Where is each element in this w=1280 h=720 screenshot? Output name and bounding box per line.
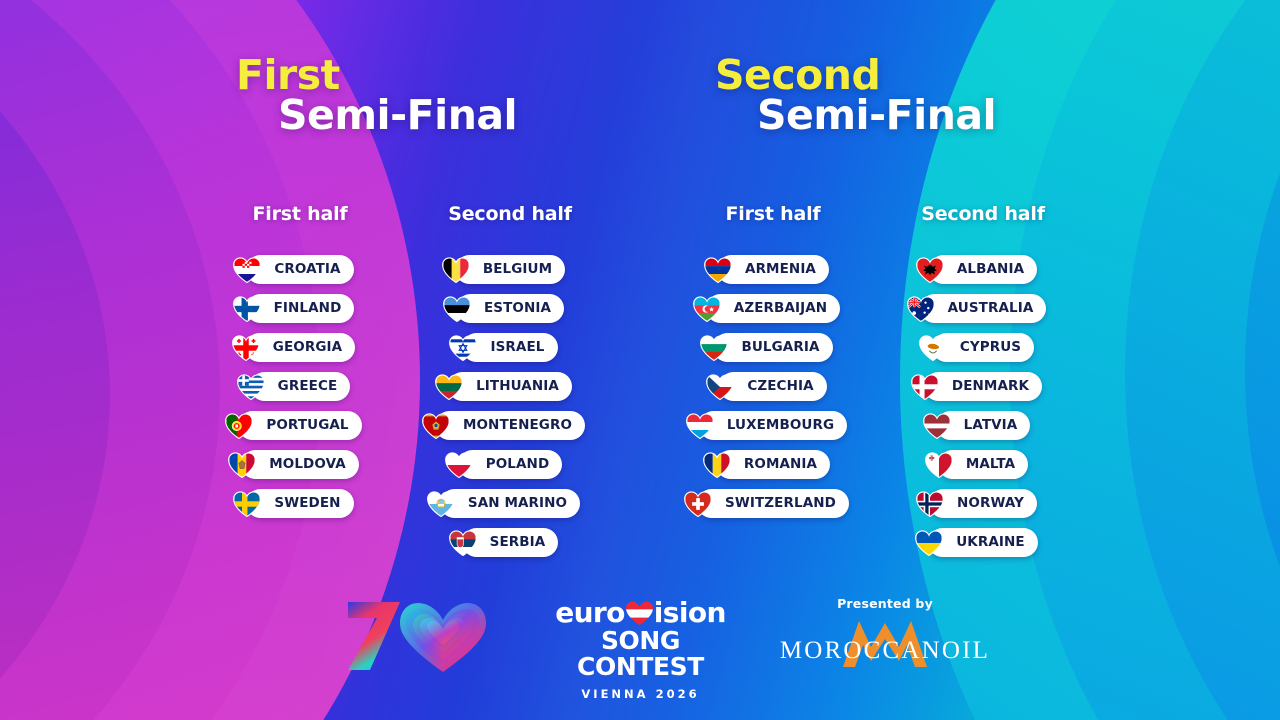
- country-name: MALTA: [966, 458, 1015, 472]
- country-name: AZERBAIJAN: [734, 302, 827, 316]
- azerbaijan-flag-heart-icon: [693, 295, 721, 323]
- country-list: ARMENIA AZERBAIJAN BULGARIA CZECHIA: [678, 255, 868, 518]
- croatia-flag-heart-icon: [233, 256, 261, 284]
- second-semi-final-title: Second Semi-Final: [715, 55, 996, 137]
- moldova-flag-heart-icon: [228, 451, 256, 479]
- country-name: LATVIA: [964, 419, 1018, 433]
- country-name: GEORGIA: [273, 341, 342, 355]
- country-pill[interactable]: MOLDOVA: [241, 450, 359, 479]
- country-name: DENMARK: [952, 380, 1029, 394]
- country-name: ISRAEL: [490, 341, 544, 355]
- austria-flag-heart-icon: [626, 601, 653, 626]
- sponsor-block: Presented by MOROCCANOIL: [775, 596, 995, 669]
- ukraine-flag-heart-icon: [915, 529, 943, 557]
- switzerland-flag-heart-icon: [684, 490, 712, 518]
- country-name: LUXEMBOURG: [727, 419, 834, 433]
- country-pill[interactable]: UKRAINE: [928, 528, 1038, 557]
- column-semi2-second-half: Second half ALBANIA AUSTRALIA CYPRUS: [888, 203, 1078, 557]
- country-name: ROMANIA: [744, 458, 817, 472]
- greece-flag-heart-icon: [237, 373, 265, 401]
- country-name: FINLAND: [274, 302, 342, 316]
- country-pill[interactable]: LITHUANIA: [448, 372, 572, 401]
- country-pill[interactable]: FINLAND: [246, 294, 355, 323]
- montenegro-flag-heart-icon: [422, 412, 450, 440]
- country-list: ALBANIA AUSTRALIA CYPRUS DENMARK LAT: [888, 255, 1078, 557]
- country-pill[interactable]: NORWAY: [929, 489, 1037, 518]
- country-pill[interactable]: ISRAEL: [462, 333, 557, 362]
- country-name: NORWAY: [957, 497, 1024, 511]
- country-pill[interactable]: PORTUGAL: [238, 411, 361, 440]
- column-heading: First half: [678, 203, 868, 231]
- country-name: SWEDEN: [274, 497, 340, 511]
- country-name: CYPRUS: [960, 341, 1021, 355]
- country-name: BELGIUM: [483, 263, 552, 277]
- bulgaria-flag-heart-icon: [700, 334, 728, 362]
- country-name: PORTUGAL: [266, 419, 348, 433]
- country-name: ALBANIA: [957, 263, 1024, 277]
- moroccanoil-wordmark: MOROCCANOIL: [775, 637, 995, 665]
- czechia-flag-heart-icon: [706, 373, 734, 401]
- country-pill[interactable]: CYPRUS: [932, 333, 1034, 362]
- country-pill[interactable]: CZECHIA: [719, 372, 826, 401]
- country-name: AUSTRALIA: [948, 302, 1034, 316]
- country-name: SERBIA: [490, 536, 546, 550]
- country-pill[interactable]: SWITZERLAND: [697, 489, 849, 518]
- israel-flag-heart-icon: [449, 334, 477, 362]
- eurovision-song-contest-logo: euro isi: [538, 600, 743, 684]
- country-pill[interactable]: AZERBAIJAN: [706, 294, 840, 323]
- first-semi-final-name: Semi-Final: [278, 95, 517, 137]
- esc-wordmark-line1: euro isi: [538, 600, 743, 627]
- country-name: BULGARIA: [741, 341, 819, 355]
- country-name: CZECHIA: [747, 380, 813, 394]
- esc-vision-text: ision: [654, 600, 726, 627]
- country-pill[interactable]: BELGIUM: [455, 255, 565, 284]
- malta-flag-heart-icon: [925, 451, 953, 479]
- lithuania-flag-heart-icon: [435, 373, 463, 401]
- country-name: CROATIA: [274, 263, 340, 277]
- first-semi-final-ordinal: First: [236, 55, 517, 95]
- first-semi-final-title: First Semi-Final: [236, 55, 517, 137]
- country-name: SAN MARINO: [468, 497, 567, 511]
- country-pill[interactable]: ROMANIA: [716, 450, 830, 479]
- armenia-flag-heart-icon: [704, 256, 732, 284]
- denmark-flag-heart-icon: [911, 373, 939, 401]
- romania-flag-heart-icon: [703, 451, 731, 479]
- country-name: MONTENEGRO: [463, 419, 572, 433]
- esc-euro-text: euro: [555, 600, 625, 627]
- estonia-flag-heart-icon: [443, 295, 471, 323]
- country-name: POLAND: [486, 458, 550, 472]
- country-list: BELGIUM ESTONIA ISRAEL LITHUANIA MON: [415, 255, 605, 557]
- country-pill[interactable]: SWEDEN: [246, 489, 353, 518]
- serbia-flag-heart-icon: [449, 529, 477, 557]
- country-name: UKRAINE: [956, 536, 1025, 550]
- san-marino-flag-heart-icon: [427, 490, 455, 518]
- country-name: SWITZERLAND: [725, 497, 836, 511]
- country-name: GREECE: [278, 380, 338, 394]
- country-pill[interactable]: GEORGIA: [245, 333, 355, 362]
- country-pill[interactable]: LUXEMBOURG: [699, 411, 847, 440]
- country-name: LITHUANIA: [476, 380, 559, 394]
- finland-flag-heart-icon: [233, 295, 261, 323]
- esc-host-city-year: VIENNA 2026: [538, 687, 743, 701]
- anniversary-70-logo: [338, 594, 488, 678]
- footer: euro isi: [0, 588, 1280, 708]
- country-pill[interactable]: ALBANIA: [929, 255, 1037, 284]
- country-name: ARMENIA: [745, 263, 816, 277]
- country-pill[interactable]: AUSTRALIA: [920, 294, 1047, 323]
- country-pill[interactable]: MALTA: [938, 450, 1028, 479]
- country-pill[interactable]: GREECE: [250, 372, 351, 401]
- country-name: MOLDOVA: [269, 458, 346, 472]
- country-pill[interactable]: ESTONIA: [456, 294, 564, 323]
- portugal-flag-heart-icon: [225, 412, 253, 440]
- column-semi1-second-half: Second half BELGIUM ESTONIA ISRAEL L: [415, 203, 605, 557]
- column-heading: First half: [205, 203, 395, 231]
- georgia-flag-heart-icon: [232, 334, 260, 362]
- country-pill[interactable]: SAN MARINO: [440, 489, 580, 518]
- country-pill[interactable]: ARMENIA: [717, 255, 829, 284]
- country-pill[interactable]: CROATIA: [246, 255, 353, 284]
- country-pill[interactable]: MONTENEGRO: [435, 411, 585, 440]
- country-name: ESTONIA: [484, 302, 551, 316]
- country-pill[interactable]: LATVIA: [936, 411, 1031, 440]
- country-pill[interactable]: POLAND: [458, 450, 563, 479]
- second-semi-final-ordinal: Second: [715, 55, 996, 95]
- esc-wordmark-line2: SONG CONTEST: [538, 628, 743, 681]
- norway-flag-heart-icon: [916, 490, 944, 518]
- country-list: CROATIA FINLAND GEORGIA GREECE PORTU: [205, 255, 395, 518]
- presented-by-label: Presented by: [775, 596, 995, 611]
- column-heading: Second half: [415, 203, 605, 231]
- country-pill[interactable]: SERBIA: [462, 528, 559, 557]
- latvia-flag-heart-icon: [923, 412, 951, 440]
- cyprus-flag-heart-icon: [919, 334, 947, 362]
- column-semi2-first-half: First half ARMENIA AZERBAIJAN BULGARIA: [678, 203, 868, 518]
- second-semi-final-name: Semi-Final: [757, 95, 996, 137]
- country-pill[interactable]: DENMARK: [924, 372, 1042, 401]
- luxembourg-flag-heart-icon: [686, 412, 714, 440]
- sweden-flag-heart-icon: [233, 490, 261, 518]
- australia-flag-heart-icon: [907, 295, 935, 323]
- belgium-flag-heart-icon: [442, 256, 470, 284]
- poland-flag-heart-icon: [445, 451, 473, 479]
- column-heading: Second half: [888, 203, 1078, 231]
- column-semi1-first-half: First half CROATIA FINLAND GEORGIA G: [205, 203, 395, 518]
- moroccanoil-logo: MOROCCANOIL: [775, 613, 995, 669]
- country-pill[interactable]: BULGARIA: [713, 333, 832, 362]
- albania-flag-heart-icon: [916, 256, 944, 284]
